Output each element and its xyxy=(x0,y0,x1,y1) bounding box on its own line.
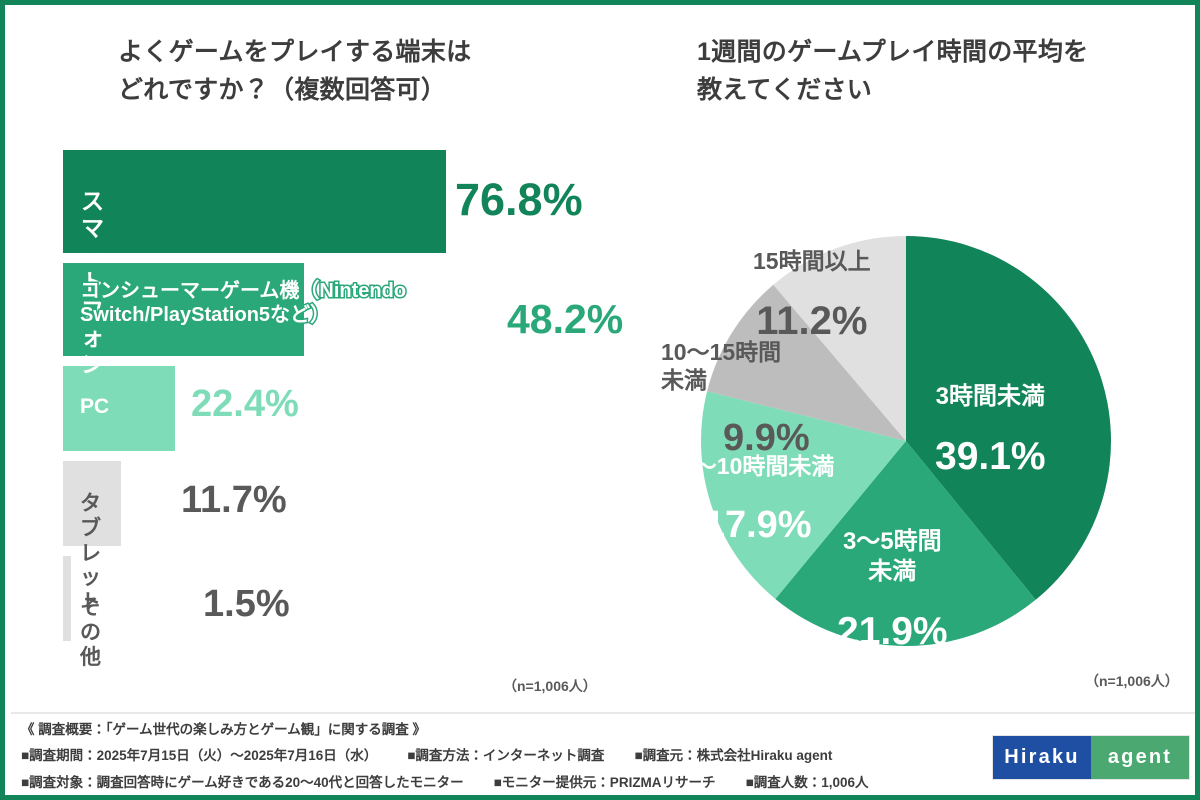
logo-text-hiraku: Hiraku xyxy=(993,736,1091,779)
infographic-page: よくゲームをプレイする端末は どれですか？（複数回答可） 1週間のゲームプレイ時… xyxy=(0,0,1200,800)
hiraku-agent-logo[interactable]: Hiraku agent xyxy=(993,736,1189,779)
pie-slice-value: 17.9% xyxy=(681,502,834,549)
pie-slice-value: 11.2% xyxy=(753,297,871,347)
bar-label: コンシューマーゲーム機（Nintendo Switch/PlayStation5… xyxy=(80,280,520,327)
bar-rect-other xyxy=(63,556,71,641)
footer-item: ■調査期間：2025年7月15日（火）〜2025年7月16日（水） xyxy=(21,748,377,763)
footer-item: ■モニター提供元：PRIZMAリサーチ xyxy=(494,775,716,790)
bar-rect-smartphone xyxy=(63,150,446,253)
pie-slice-label: 3〜5時間 未満 21.9% xyxy=(837,507,948,676)
logo-text-agent: agent xyxy=(1091,736,1189,779)
bar-value: 76.8% xyxy=(455,174,583,226)
bar-value: 1.5% xyxy=(203,583,290,626)
footer-item: ■調査対象：調査回答時にゲーム好きである20〜40代と回答したモニター xyxy=(21,775,464,790)
bar-value: 11.7% xyxy=(181,479,287,522)
pie-slice-value: 21.9% xyxy=(837,608,948,656)
bar-label: その他 xyxy=(80,596,101,670)
bar-value: 48.2% xyxy=(507,296,623,343)
bar-label: PC xyxy=(80,395,109,420)
device-bar-chart: スマートフォン 76.8% コンシューマーゲーム機（Nintendo Switc… xyxy=(5,5,645,705)
footer-item: ■調査元：株式会社Hiraku agent xyxy=(634,748,832,763)
pie-slice-name: 15時間以上 xyxy=(753,247,871,276)
pie-slice-name: 3〜5時間 未満 xyxy=(837,527,948,587)
pie-slice-value: 39.1% xyxy=(935,433,1046,481)
pie-slice-name: 3時間未満 xyxy=(935,382,1046,412)
sample-size-note-left: （n=1,006人） xyxy=(503,676,597,696)
footer-item: ■調査方法：インターネット調査 xyxy=(407,748,604,763)
footer-item: ■調査人数：1,006人 xyxy=(746,775,869,790)
pie-slice-label: 15時間以上 11.2% xyxy=(753,227,871,367)
pie-slice-value: 9.9% xyxy=(723,415,810,462)
sample-size-note-right: （n=1,006人） xyxy=(1085,671,1179,691)
pie-slice-label: 3時間未満 39.1% xyxy=(935,362,1046,502)
footer-divider xyxy=(11,712,1199,714)
right-panel-title: 1週間のゲームプレイ時間の平均を 教えてください xyxy=(697,33,1167,109)
bar-value: 22.4% xyxy=(191,383,299,426)
